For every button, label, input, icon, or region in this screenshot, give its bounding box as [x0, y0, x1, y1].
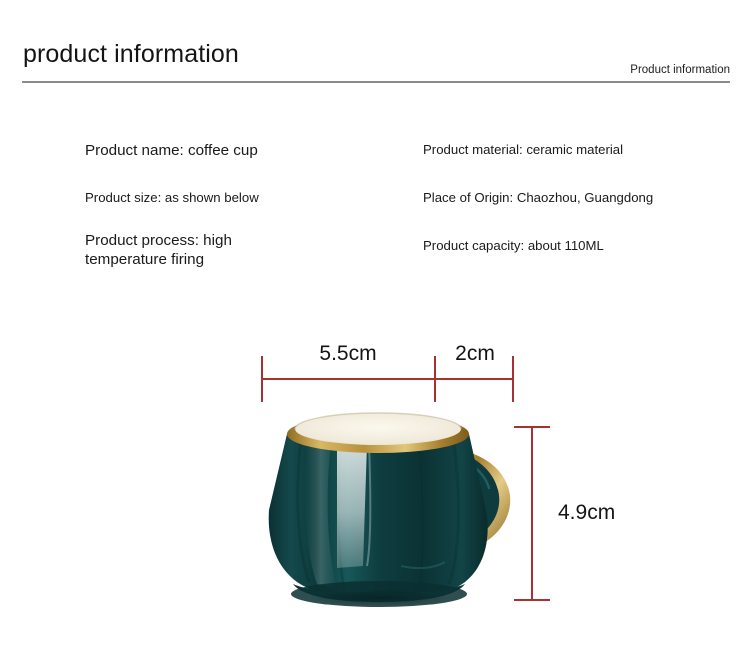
spec-product-size: Product size: as shown below — [85, 190, 259, 206]
specification-list: Product name: coffee cup Product size: a… — [0, 128, 750, 288]
spec-place-of-origin: Place of Origin: Chaozhou, Guangdong — [423, 190, 653, 206]
page-header: product information Product information — [0, 0, 750, 92]
header-divider — [22, 81, 730, 83]
dimension-tick-right — [512, 356, 514, 402]
coffee-cup-illustration — [233, 398, 533, 618]
dimension-label-width: 5.5cm — [261, 342, 435, 366]
spec-product-name: Product name: coffee cup — [85, 142, 258, 161]
dimension-label-depth: 2cm — [436, 342, 514, 366]
dimension-tick-left — [261, 356, 263, 402]
dimension-line-horizontal — [261, 378, 513, 380]
spec-product-material: Product material: ceramic material — [423, 142, 623, 158]
dimension-tick-middle — [434, 356, 436, 402]
spec-product-capacity: Product capacity: about 110ML — [423, 238, 604, 254]
dimension-label-height: 4.9cm — [558, 501, 615, 525]
header-side-label: Product information — [630, 64, 730, 76]
spec-product-process: Product process: high temperature firing — [85, 232, 232, 270]
page-title: product information — [23, 40, 239, 69]
dimension-diagram: 5.5cm 2cm 4.9cm — [0, 320, 750, 647]
